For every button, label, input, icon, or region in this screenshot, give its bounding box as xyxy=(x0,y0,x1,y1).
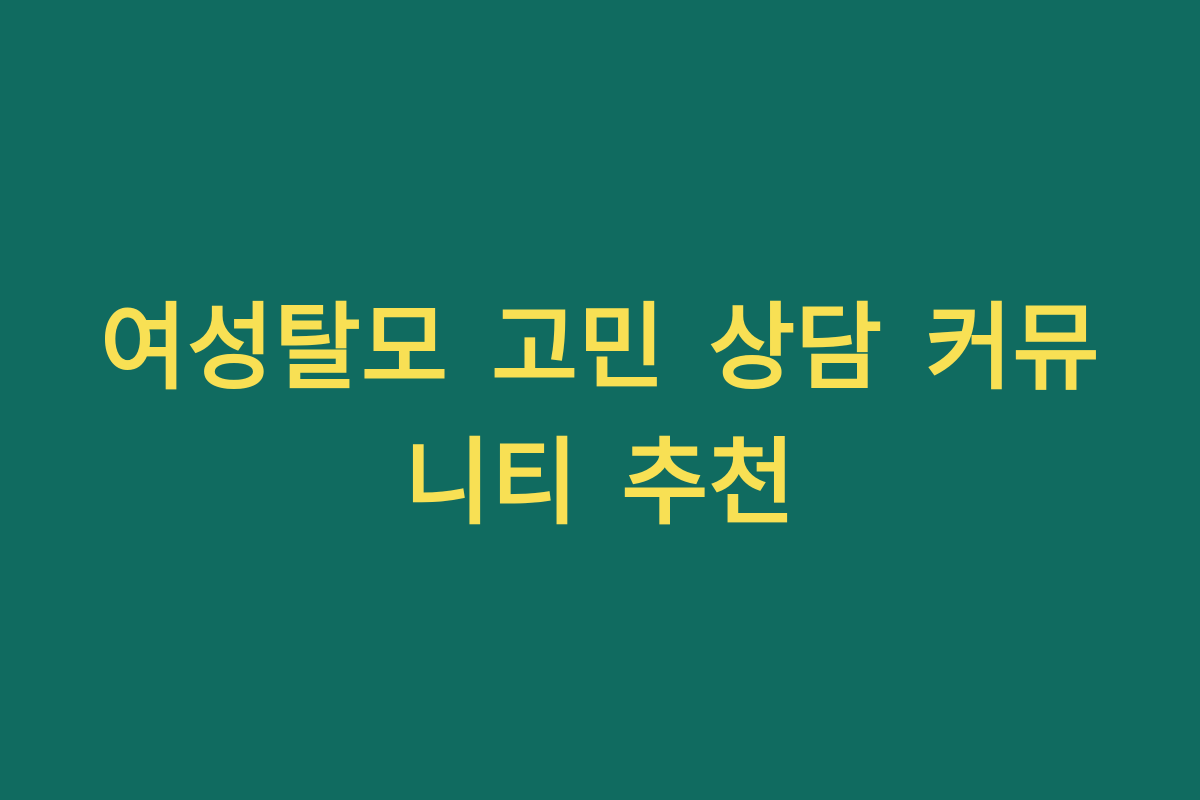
headline-line-1: 여성탈모 고민 상담 커뮤 xyxy=(70,281,1130,416)
headline-line-2: 니티 추천 xyxy=(70,416,1130,551)
text-banner: 여성탈모 고민 상담 커뮤 니티 추천 xyxy=(0,0,1200,800)
headline-block: 여성탈모 고민 상담 커뮤 니티 추천 xyxy=(70,281,1130,552)
page-title: 여성탈모 고민 상담 커뮤 니티 추천 xyxy=(70,281,1130,552)
